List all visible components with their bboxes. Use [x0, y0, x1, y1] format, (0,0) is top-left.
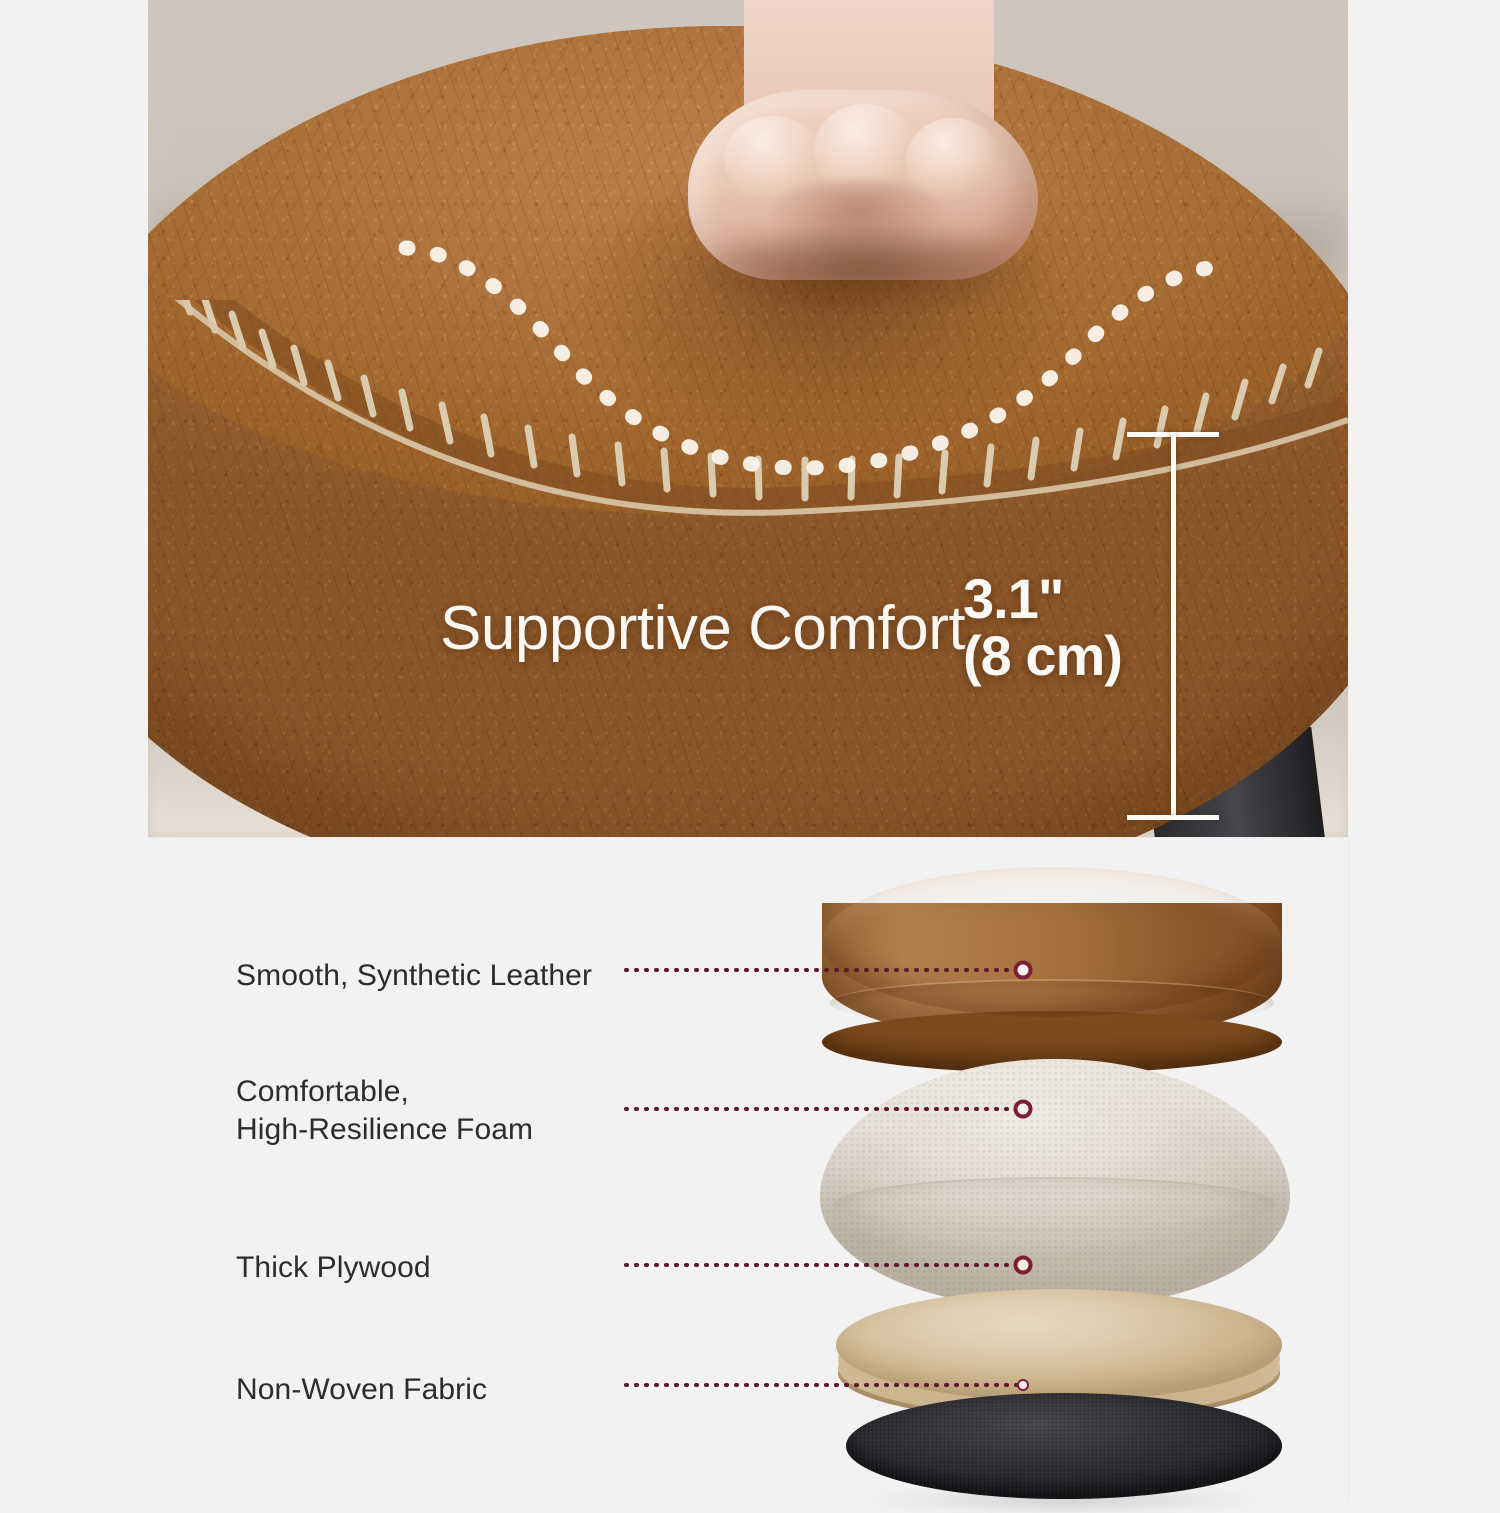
- dimension-annotation: 3.1" (8 cm): [1123, 432, 1333, 820]
- layer-label-leather: Smooth, Synthetic Leather: [236, 957, 592, 995]
- hand-contact-shadow: [678, 230, 1048, 320]
- infographic-canvas: Supportive Comfort 3.1" (8 cm) Smooth, S…: [0, 0, 1500, 1500]
- foam-seam-line: [834, 1177, 1276, 1233]
- page-title: Supportive Comfort: [440, 598, 965, 660]
- layer-foam: [820, 1059, 1290, 1307]
- layer-label-foam: Comfortable, High-Resilience Foam: [236, 1073, 533, 1150]
- layer-fabric: [846, 1393, 1282, 1499]
- layer-leather: [822, 867, 1282, 1067]
- dimension-inches: 3.1": [963, 567, 1063, 630]
- dimension-label: 3.1" (8 cm): [963, 570, 1343, 684]
- exploded-view-panel: Smooth, Synthetic Leather Comfortable, H…: [0, 837, 1500, 1500]
- fabric-weave-texture: [846, 1393, 1282, 1499]
- right-edge-rule: [1348, 837, 1349, 1500]
- layer-label-fabric: Non-Woven Fabric: [236, 1371, 487, 1409]
- leather-rim-seam: [830, 979, 1274, 1027]
- hand-pressing-cushion: [648, 0, 1078, 350]
- dimension-metric: (8 cm): [963, 627, 1343, 684]
- plywood-top-face: [836, 1289, 1282, 1401]
- panel-divider: [148, 837, 1348, 838]
- dimension-cap-bottom: [1127, 815, 1219, 820]
- product-photo-panel: Supportive Comfort 3.1" (8 cm): [148, 0, 1348, 837]
- layer-label-plywood: Thick Plywood: [236, 1249, 431, 1287]
